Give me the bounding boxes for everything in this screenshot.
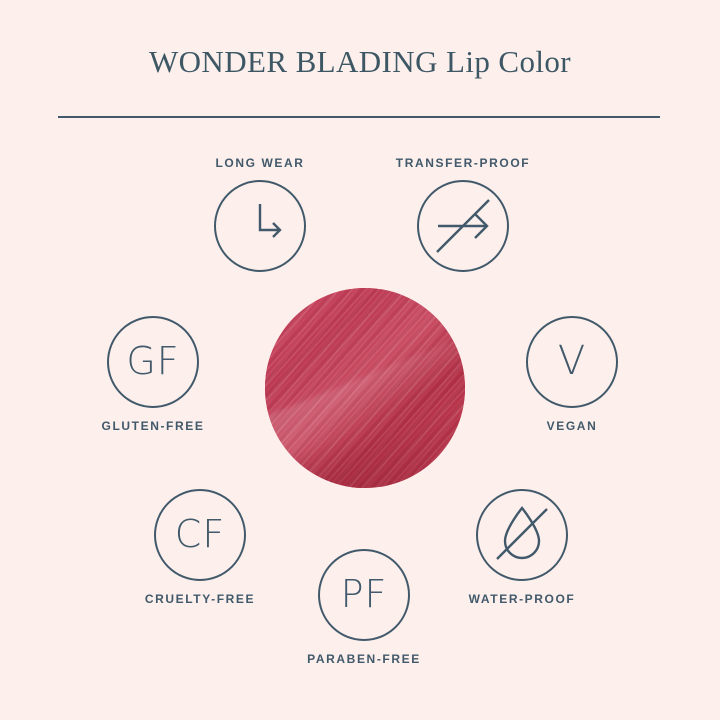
badge-gluten-free[interactable]: GF GLUTEN-FREE [73, 316, 233, 433]
pf-monogram-text: PF [341, 575, 388, 613]
badge-paraben-free[interactable]: PF PARABEN-FREE [284, 549, 444, 666]
badge-cruelty-free[interactable]: CF CRUELTY-FREE [120, 489, 280, 606]
cf-monogram-icon: CF [154, 489, 246, 581]
badge-label-water-proof: WATER-PROOF [442, 592, 602, 606]
no-water-drop-icon [476, 489, 568, 581]
v-monogram-icon: V [526, 316, 618, 408]
badge-water-proof[interactable]: WATER-PROOF [442, 489, 602, 606]
page-title: WONDER BLADING Lip Color [0, 44, 720, 80]
badge-label-cruelty-free: CRUELTY-FREE [120, 592, 280, 606]
pf-monogram-icon: PF [318, 549, 410, 641]
product-benefits-infographic: WONDER BLADING Lip Color LONG WEAR TRANS… [0, 0, 720, 720]
gf-monogram-text: GF [126, 342, 179, 380]
badge-vegan[interactable]: V VEGAN [492, 316, 652, 433]
no-transfer-arrow-icon [417, 180, 509, 272]
badge-label-transfer-proof: TRANSFER-PROOF [383, 156, 543, 170]
v-monogram-text: V [558, 341, 586, 381]
badge-label-vegan: VEGAN [492, 419, 652, 433]
badge-transfer-proof[interactable]: TRANSFER-PROOF [383, 156, 543, 272]
badge-label-gluten-free: GLUTEN-FREE [73, 419, 233, 433]
badge-label-paraben-free: PARABEN-FREE [284, 652, 444, 666]
badge-long-wear[interactable]: LONG WEAR [180, 156, 340, 272]
cf-monogram-text: CF [175, 515, 225, 553]
badge-label-long-wear: LONG WEAR [180, 156, 340, 170]
title-divider [58, 116, 660, 118]
gf-monogram-icon: GF [107, 316, 199, 408]
clock-icon [214, 180, 306, 272]
lip-color-swatch [265, 288, 465, 488]
